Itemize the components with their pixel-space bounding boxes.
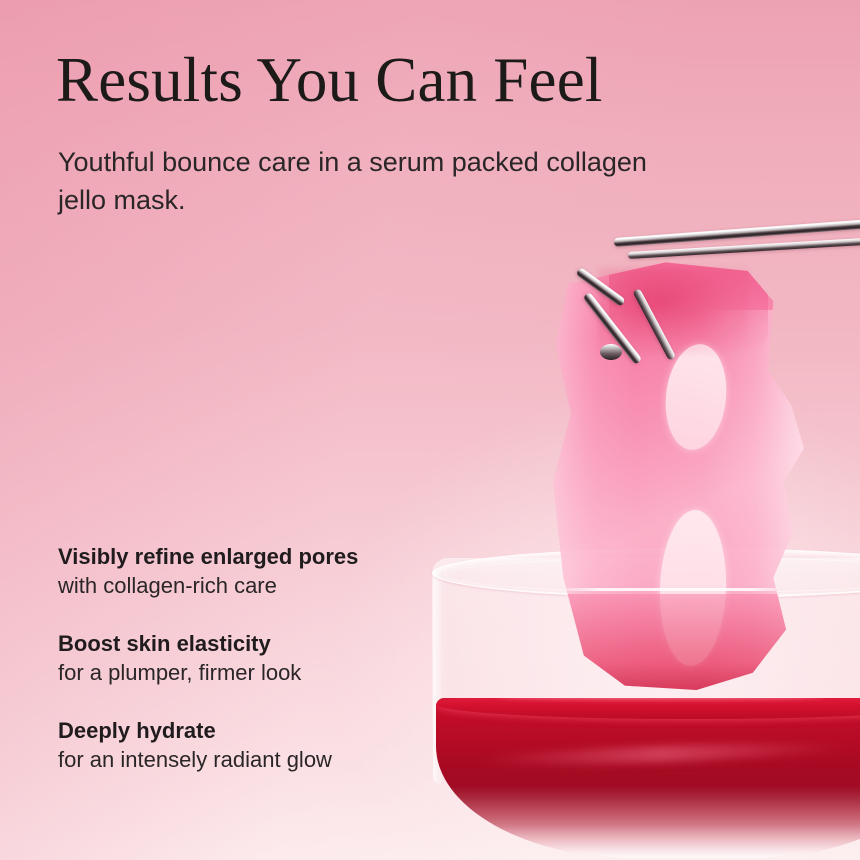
text-layer: Results You Can Feel Youthful bounce car…	[0, 0, 860, 860]
benefit-subtitle: for an intensely radiant glow	[58, 745, 458, 774]
benefit-title: Boost skin elasticity	[58, 629, 458, 658]
benefit-title: Visibly refine enlarged pores	[58, 542, 458, 571]
benefit-title: Deeply hydrate	[58, 716, 458, 745]
results-you-can-feel-card: Results You Can Feel Youthful bounce car…	[0, 0, 860, 860]
benefit-subtitle: for a plumper, firmer look	[58, 658, 458, 687]
page-subtitle: Youthful bounce care in a serum packed c…	[58, 143, 678, 220]
benefit-item: Boost skin elasticity for a plumper, fir…	[58, 629, 458, 687]
benefit-subtitle: with collagen-rich care	[58, 571, 458, 600]
page-title: Results You Can Feel	[56, 46, 603, 114]
benefit-item: Visibly refine enlarged pores with colla…	[58, 542, 458, 600]
benefit-list: Visibly refine enlarged pores with colla…	[58, 542, 458, 774]
benefit-item: Deeply hydrate for an intensely radiant …	[58, 716, 458, 774]
